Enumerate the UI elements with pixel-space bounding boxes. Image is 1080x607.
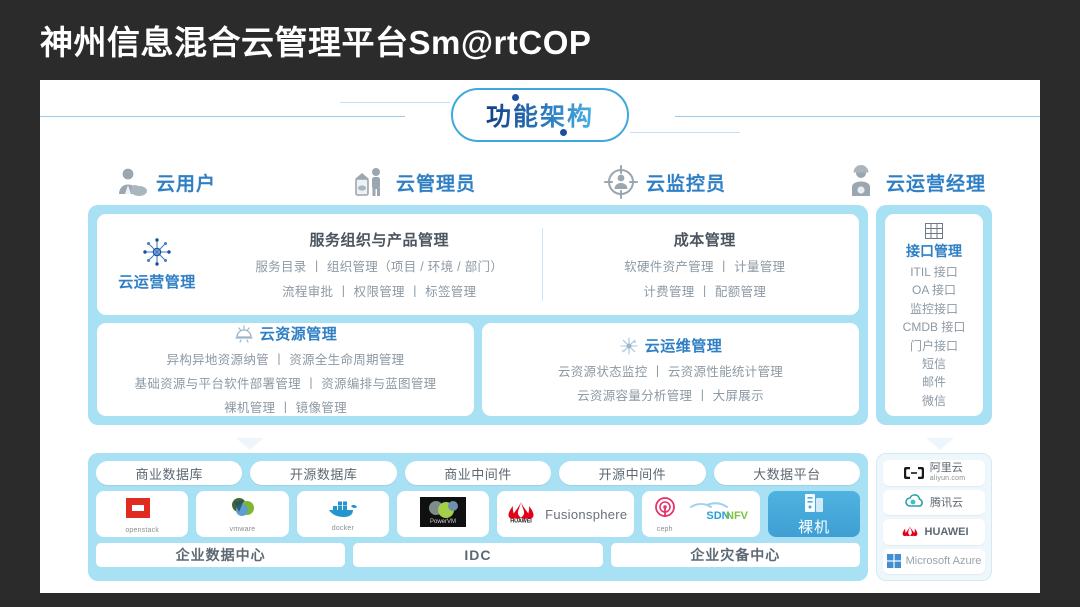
column-line: 软硬件资产管理 丨 计量管理 — [624, 256, 785, 275]
column-heading: 服务组织与产品管理 — [309, 229, 449, 250]
header-rule-right — [675, 116, 1040, 117]
management-panel: 云运营管理 服务组织与产品管理 服务目录 丨 组织管理（项目 / 环境 / 部门… — [88, 205, 868, 425]
column-divider — [542, 228, 543, 301]
vendor-logo-openstack: openstack — [96, 491, 188, 537]
pill-dot-top-icon — [512, 94, 519, 101]
interface-item: ITIL 接口 — [910, 264, 958, 281]
interface-grid-icon — [924, 222, 944, 240]
role-label: 云运营经理 — [886, 169, 986, 196]
interface-item: CMDB 接口 — [903, 319, 966, 336]
resource-tag[interactable]: 开源数据库 — [250, 461, 396, 485]
cloud-ops-card: 云运维管理 云资源状态监控 丨 云资源性能统计管理 云资源容量分析管理 丨 大屏… — [482, 323, 859, 416]
huawei-logo — [900, 524, 920, 539]
diagram-title-pill: 功能架构 — [451, 88, 629, 142]
card-line: 异构异地资源纳管 丨 资源全生命周期管理 — [167, 349, 405, 368]
diagram-title: 功能架构 — [486, 97, 594, 133]
card-heading-row: 云运维管理 — [619, 335, 723, 356]
column-line: 服务目录 丨 组织管理（项目 / 环境 / 部门） — [255, 256, 503, 275]
resource-tag[interactable]: 开源中间件 — [559, 461, 705, 485]
column-heading: 成本管理 — [674, 229, 736, 250]
resource-tag[interactable]: 商业数据库 — [96, 461, 242, 485]
interface-item: 邮件 — [922, 374, 946, 391]
card-line: 基础资源与平台软件部署管理 丨 资源编排与蓝图管理 — [135, 373, 437, 392]
sdn-nfv-logo: SDN NFV — [685, 500, 751, 524]
cloud-operations-label: 云运营管理 — [118, 271, 196, 292]
huawei-logo: HUAWEI — [504, 501, 538, 523]
aliyun-logo — [903, 466, 925, 480]
public-cloud-label: HUAWEI — [925, 526, 969, 538]
vmware-logo — [228, 496, 258, 520]
role-cloud-monitor: 云监控员 — [540, 158, 790, 206]
vendor-caption: openstack — [125, 527, 159, 534]
cloud-resource-card: 云资源管理 异构异地资源纳管 丨 资源全生命周期管理 基础资源与平台软件部署管理… — [97, 323, 474, 416]
role-cloud-ops-manager: 云运营经理 — [790, 158, 1040, 206]
cost-management-column: 成本管理 软硬件资产管理 丨 计量管理 计费管理 丨 配额管理 — [551, 214, 860, 315]
vendor-caption: ceph — [652, 526, 678, 533]
powervm-logo: PowerVM — [420, 497, 466, 527]
vendor-logo-ceph-sdnnfv: ceph SDN NFV — [642, 491, 760, 537]
header-rule-accent-left — [340, 102, 450, 103]
bare-metal-label: 裸机 — [798, 516, 830, 537]
svg-text:PowerVM: PowerVM — [430, 519, 456, 525]
cloud-operations-badge: 云运营管理 — [97, 214, 217, 315]
public-cloud-aliyun[interactable]: 阿里云 aliyun.com — [883, 460, 985, 486]
card-heading-row: 云资源管理 — [234, 323, 338, 344]
roles-row: 云用户 云管理员 — [40, 158, 1040, 206]
ops-burst-icon — [619, 336, 639, 356]
interface-management-card: 接口管理 ITIL 接口 OA 接口 监控接口 CMDB 接口 门户接口 短信 … — [885, 214, 983, 416]
resource-ops-row: 云资源管理 异构异地资源纳管 丨 资源全生命周期管理 基础资源与平台软件部署管理… — [97, 323, 859, 416]
architecture-board: 功能架构 云用户 — [40, 80, 1040, 593]
datacenter-item[interactable]: 企业数据中心 — [96, 543, 345, 567]
header-rule-left — [40, 116, 405, 117]
tencent-cloud-logo — [905, 494, 925, 510]
role-cloud-admin: 云管理员 — [290, 158, 540, 206]
interface-item: OA 接口 — [912, 282, 956, 299]
monitor-target-icon — [604, 165, 638, 199]
vendor-text: Fusionsphere — [545, 507, 627, 522]
server-icon — [802, 491, 826, 515]
resource-tag-row: 商业数据库 开源数据库 商业中间件 开源中间件 大数据平台 — [96, 461, 860, 485]
interface-item: 短信 — [922, 356, 946, 373]
interface-panel-wrap: 接口管理 ITIL 接口 OA 接口 监控接口 CMDB 接口 门户接口 短信 … — [876, 205, 992, 425]
snowflake-hub-icon — [142, 237, 172, 267]
interface-item: 微信 — [922, 393, 946, 410]
page-title: 神州信息混合云管理平台Sm@rtCOP — [40, 16, 591, 64]
interface-item: 门户接口 — [910, 338, 958, 355]
svg-text:NFV: NFV — [726, 510, 749, 522]
card-line: 云资源状态监控 丨 云资源性能统计管理 — [558, 361, 783, 380]
interface-heading: 接口管理 — [906, 241, 962, 261]
vendor-caption: vmware — [228, 526, 258, 533]
public-cloud-azure[interactable]: Microsoft Azure — [883, 549, 985, 575]
resource-hub-icon — [234, 324, 254, 344]
card-line: 云资源容量分析管理 丨 大屏展示 — [577, 385, 764, 404]
platform-caption: 神州信息混合云管理平台 Sm@rtCOP — [88, 428, 868, 448]
azure-logo — [887, 554, 901, 568]
bare-metal-tile[interactable]: 裸机 — [768, 491, 860, 537]
role-label: 云管理员 — [396, 169, 476, 196]
slide-root: 神州信息混合云管理平台Sm@rtCOP 功能架构 — [0, 0, 1080, 607]
vendor-logo-vmware: vmware — [196, 491, 288, 537]
openstack-logo — [125, 495, 151, 521]
role-label: 云用户 — [156, 169, 216, 196]
resource-tag[interactable]: 大数据平台 — [714, 461, 860, 485]
public-cloud-panel: 阿里云 aliyun.com 腾讯云 — [876, 453, 992, 581]
flow-arrow-left-icon — [236, 438, 264, 450]
public-cloud-sub: aliyun.com — [930, 475, 965, 482]
admin-person-icon — [354, 165, 388, 199]
public-cloud-label: 腾讯云 — [930, 494, 963, 510]
role-label: 云监控员 — [646, 169, 726, 196]
vendor-logo-huawei-fusionsphere: HUAWEI Fusionsphere — [497, 491, 634, 537]
svg-text:HUAWEI: HUAWEI — [510, 518, 532, 523]
cloud-operations-card: 云运营管理 服务组织与产品管理 服务目录 丨 组织管理（项目 / 环境 / 部门… — [97, 214, 859, 315]
infrastructure-layer: 商业数据库 开源数据库 商业中间件 开源中间件 大数据平台 — [88, 453, 992, 581]
resource-tag[interactable]: 商业中间件 — [405, 461, 551, 485]
flow-arrow-right-icon — [926, 438, 954, 450]
interface-item: 监控接口 — [910, 301, 958, 318]
public-cloud-tencent[interactable]: 腾讯云 — [883, 490, 985, 516]
card-heading: 云运维管理 — [645, 335, 723, 356]
vendor-logo-powervm: PowerVM — [397, 491, 489, 537]
public-cloud-label: Microsoft Azure — [906, 555, 982, 567]
column-line: 计费管理 丨 配额管理 — [643, 281, 766, 300]
card-heading: 云资源管理 — [260, 323, 338, 344]
ceph-logo — [652, 496, 678, 520]
datacenter-item[interactable]: IDC — [353, 543, 602, 567]
management-layer: 云运营管理 服务组织与产品管理 服务目录 丨 组织管理（项目 / 环境 / 部门… — [88, 205, 992, 425]
header-rule-accent-right — [630, 132, 740, 133]
service-product-column: 服务组织与产品管理 服务目录 丨 组织管理（项目 / 环境 / 部门） 流程审批… — [225, 214, 534, 315]
user-cloud-icon — [114, 165, 148, 199]
role-cloud-user: 云用户 — [40, 158, 290, 206]
vendor-logo-docker: docker — [297, 491, 389, 537]
diagram-header: 功能架构 — [40, 80, 1040, 152]
vendor-logo-row: openstack vmware — [96, 491, 860, 537]
resource-pool-panel: 商业数据库 开源数据库 商业中间件 开源中间件 大数据平台 — [88, 453, 868, 581]
column-line: 流程审批 丨 权限管理 丨 标签管理 — [282, 281, 476, 300]
public-cloud-label: 阿里云 — [930, 463, 965, 475]
operations-manager-icon — [844, 165, 878, 199]
public-cloud-huawei[interactable]: HUAWEI — [883, 519, 985, 545]
vendor-caption: docker — [327, 525, 359, 532]
card-line: 裸机管理 丨 镜像管理 — [224, 397, 347, 416]
pill-dot-bottom-icon — [560, 129, 567, 136]
docker-logo — [327, 497, 359, 519]
datacenter-row: 企业数据中心 IDC 企业灾备中心 — [96, 543, 860, 567]
datacenter-item[interactable]: 企业灾备中心 — [611, 543, 860, 567]
